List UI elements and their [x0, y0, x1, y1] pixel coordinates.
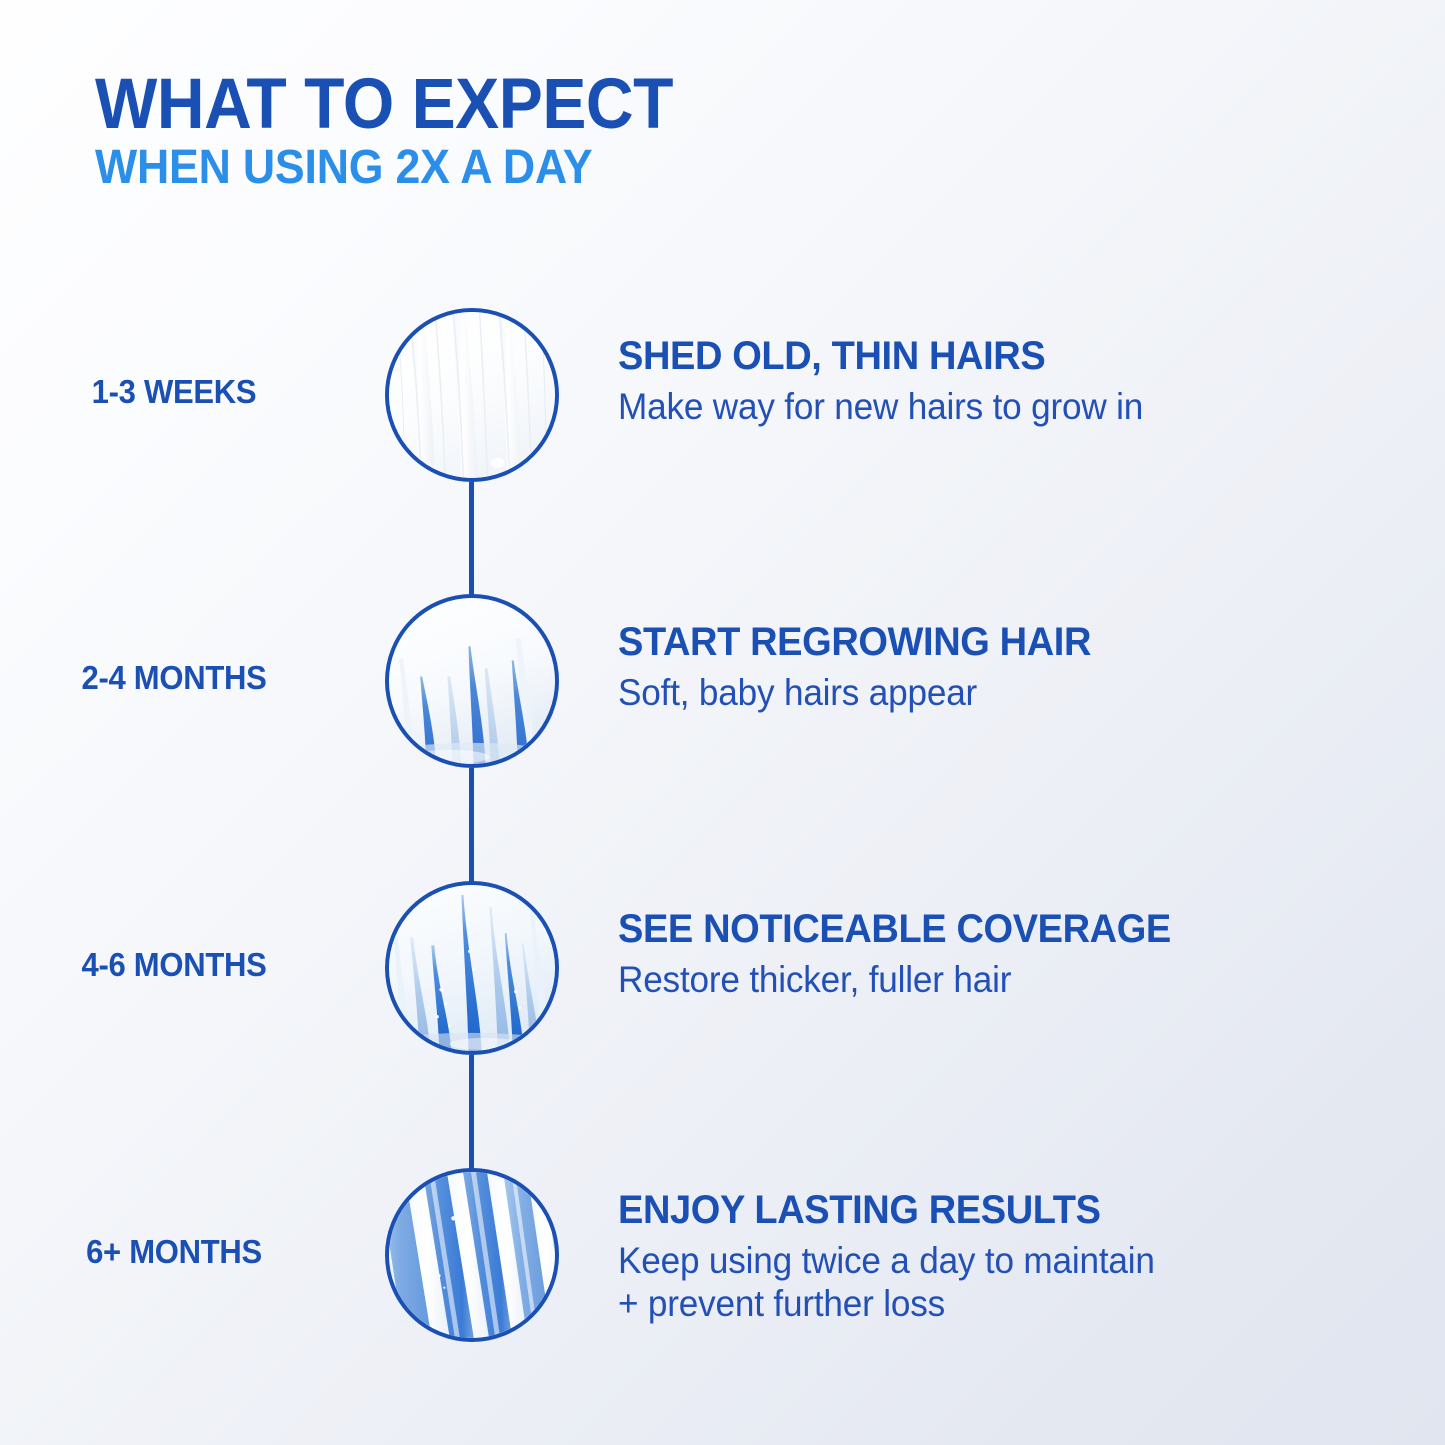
- timeline-connector-3: [469, 1055, 474, 1173]
- step-copy-3: SEE NOTICEABLE COVERAGE Restore thicker,…: [618, 909, 1398, 1001]
- step-body-line: Keep using twice a day to maintain: [618, 1239, 1359, 1282]
- step-body-line: Make way for new hairs to grow in: [618, 385, 1359, 428]
- stage-label-4: 6+ MONTHS: [10, 1233, 337, 1271]
- step-body-2: Soft, baby hairs appear: [618, 671, 1359, 714]
- step-heading-2: START REGROWING HAIR: [618, 622, 1359, 662]
- step-copy-2: START REGROWING HAIR Soft, baby hairs ap…: [618, 622, 1398, 714]
- step-heading-4: ENJOY LASTING RESULTS: [618, 1190, 1359, 1230]
- hair-follicle-closeup-baby-hairs-icon: [385, 594, 559, 768]
- stage-label-2: 2-4 MONTHS: [10, 659, 337, 697]
- hair-follicle-closeup-thick-hairs-icon: [385, 1168, 559, 1342]
- hair-follicle-closeup-sparse-white-icon: [385, 308, 559, 482]
- step-heading-1: SHED OLD, THIN HAIRS: [618, 336, 1359, 376]
- timeline: 1-3 WEEKS: [0, 0, 1445, 1445]
- timeline-connector-2: [469, 768, 474, 886]
- hair-follicle-closeup-fuller-hairs-icon: [385, 881, 559, 1055]
- step-copy-1: SHED OLD, THIN HAIRS Make way for new ha…: [618, 336, 1398, 428]
- step-body-line: + prevent further loss: [618, 1282, 1359, 1325]
- step-body-1: Make way for new hairs to grow in: [618, 385, 1359, 428]
- step-body-line: Soft, baby hairs appear: [618, 671, 1359, 714]
- stage-label-3: 4-6 MONTHS: [10, 946, 337, 984]
- timeline-connector-1: [469, 482, 474, 600]
- step-body-line: Restore thicker, fuller hair: [618, 958, 1359, 1001]
- step-heading-3: SEE NOTICEABLE COVERAGE: [618, 909, 1359, 949]
- step-body-4: Keep using twice a day to maintain + pre…: [618, 1239, 1359, 1326]
- step-copy-4: ENJOY LASTING RESULTS Keep using twice a…: [618, 1190, 1398, 1326]
- stage-label-1: 1-3 WEEKS: [10, 373, 337, 411]
- step-body-3: Restore thicker, fuller hair: [618, 958, 1359, 1001]
